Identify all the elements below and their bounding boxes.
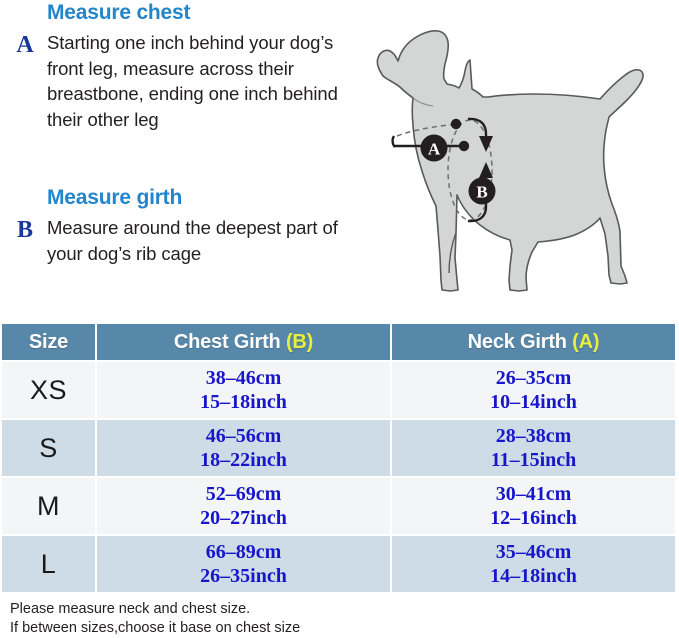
chest-endpoint-dot xyxy=(459,141,469,151)
diagram-marker-b: B xyxy=(469,178,496,205)
cell-chest-cm: 38–46cm xyxy=(97,366,390,390)
cell-neck-girth: 28–38cm 11–15inch xyxy=(392,420,675,476)
cell-neck-girth: 30–41cm 12–16inch xyxy=(392,478,675,534)
column-header-size: Size xyxy=(2,324,95,360)
diagram-marker-a: A xyxy=(421,135,448,162)
cell-chest-inch: 20–27inch xyxy=(97,506,390,530)
instruction-text-chest: Starting one inch behind your dog’s fron… xyxy=(47,30,362,132)
cell-neck-cm: 30–41cm xyxy=(392,482,675,506)
column-header-neck-text: Neck Girth xyxy=(468,331,573,353)
instructions-panel: Measure chest A Starting one inch behind… xyxy=(0,0,362,318)
instruction-marker-b: B xyxy=(10,217,40,243)
cell-chest-inch: 15–18inch xyxy=(97,390,390,414)
cell-size: L xyxy=(2,536,95,592)
cell-neck-girth: 26–35cm 10–14inch xyxy=(392,362,675,418)
cell-size: S xyxy=(2,420,95,476)
column-header-size-label: Size xyxy=(29,331,68,353)
footer-note-line-2: If between sizes,choose it base on chest… xyxy=(10,619,610,638)
table-row: M 52–69cm 20–27inch 30–41cm 12–16inch xyxy=(2,478,675,534)
column-header-chest-girth: Chest Girth (B) xyxy=(97,324,390,360)
cell-size: M xyxy=(2,478,95,534)
instruction-body-chest: A Starting one inch behind your dog’s fr… xyxy=(0,30,362,132)
instruction-block-chest: Measure chest A Starting one inch behind… xyxy=(0,0,362,132)
cell-neck-inch: 12–16inch xyxy=(392,506,675,530)
table-row: S 46–56cm 18–22inch 28–38cm 11–15inch xyxy=(2,420,675,476)
column-header-chest-letter: (B) xyxy=(286,331,313,353)
footer-note-line-1: Please measure neck and chest size. xyxy=(10,600,610,619)
cell-chest-cm: 46–56cm xyxy=(97,424,390,448)
cell-chest-girth: 46–56cm 18–22inch xyxy=(97,420,390,476)
table-row: XS 38–46cm 15–18inch 26–35cm 10–14inch xyxy=(2,362,675,418)
instruction-block-girth: Measure girth B Measure around the deepe… xyxy=(0,185,362,266)
size-chart-table: Size Chest Girth (B) Neck Girth (A) XS 3… xyxy=(0,322,677,594)
chest-line-cap xyxy=(393,136,395,147)
instruction-body-girth: B Measure around the deepest part of you… xyxy=(0,215,362,266)
cell-neck-girth: 35–46cm 14–18inch xyxy=(392,536,675,592)
dog-silhouette-icon xyxy=(377,31,643,291)
column-header-neck-letter: (A) xyxy=(572,331,599,353)
cell-chest-girth: 38–46cm 15–18inch xyxy=(97,362,390,418)
chest-far-endpoint-dot xyxy=(451,119,461,129)
instruction-heading-girth: Measure girth xyxy=(47,185,362,211)
column-header-neck-girth: Neck Girth (A) xyxy=(392,324,675,360)
dog-body-shape xyxy=(377,31,643,291)
cell-chest-cm: 66–89cm xyxy=(97,540,390,564)
cell-chest-girth: 66–89cm 26–35inch xyxy=(97,536,390,592)
instruction-marker-a: A xyxy=(10,32,40,58)
cell-chest-cm: 52–69cm xyxy=(97,482,390,506)
cell-size: XS xyxy=(2,362,95,418)
cell-neck-inch: 11–15inch xyxy=(392,448,675,472)
diagram-marker-b-label: B xyxy=(476,183,487,202)
table-row: L 66–89cm 26–35inch 35–46cm 14–18inch xyxy=(2,536,675,592)
table-header-row: Size Chest Girth (B) Neck Girth (A) xyxy=(2,324,675,360)
instruction-text-girth: Measure around the deepest part of your … xyxy=(47,215,362,266)
cell-neck-cm: 26–35cm xyxy=(392,366,675,390)
diagram-marker-a-label: A xyxy=(428,140,441,159)
cell-chest-inch: 18–22inch xyxy=(97,448,390,472)
dog-measurement-diagram: A B xyxy=(352,18,679,318)
footer-notes: Please measure neck and chest size. If b… xyxy=(10,600,610,638)
cell-neck-cm: 35–46cm xyxy=(392,540,675,564)
instruction-heading-chest: Measure chest xyxy=(47,0,362,26)
cell-neck-inch: 14–18inch xyxy=(392,564,675,588)
cell-neck-cm: 28–38cm xyxy=(392,424,675,448)
column-header-chest-text: Chest Girth xyxy=(174,331,286,353)
cell-chest-inch: 26–35inch xyxy=(97,564,390,588)
cell-neck-inch: 10–14inch xyxy=(392,390,675,414)
cell-chest-girth: 52–69cm 20–27inch xyxy=(97,478,390,534)
